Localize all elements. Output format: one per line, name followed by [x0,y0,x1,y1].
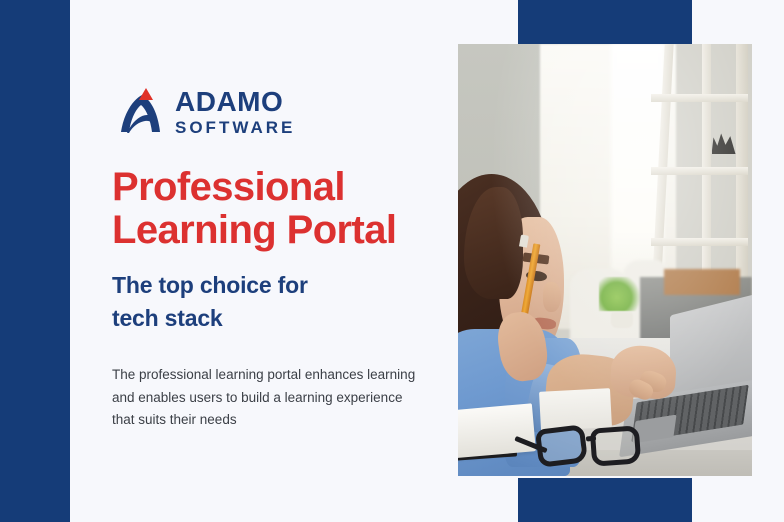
eyeglasses-lens-right [590,426,642,468]
bottom-accent-block [518,478,692,522]
plant-pot [611,312,633,328]
page-title: Professional Learning Portal [112,166,462,252]
logo-primary-text: ADAMO [175,88,295,116]
marketing-banner: ADAMO SOFTWARE Professional Learning Por… [0,0,784,522]
plant [599,277,643,311]
hero-photo [458,44,752,476]
page-subtitle: The top choice for tech stack [112,269,442,336]
content-column: ADAMO SOFTWARE Professional Learning Por… [112,0,452,522]
brand-logo: ADAMO SOFTWARE [114,86,295,138]
photo-scene [458,44,752,476]
body-paragraph: The professional learning portal enhance… [112,364,424,432]
top-accent-block [518,0,692,45]
person-nose [543,282,561,312]
eyeglasses [534,424,663,476]
shelf-board [651,94,748,102]
decor-object [712,132,736,154]
subheadline-line-2: tech stack [112,302,442,335]
logo-secondary-text: SOFTWARE [175,119,295,136]
headline-line-1: Professional [112,165,345,209]
shelf-board [651,167,748,175]
left-accent-bar [0,0,70,522]
open-book [458,403,536,458]
brand-wordmark: ADAMO SOFTWARE [175,88,295,136]
cabinet-wood-accent [664,269,740,295]
adamo-logo-icon [114,86,166,138]
shelf-board [651,238,748,246]
eyeglasses-bridge [586,435,597,441]
subheadline-line-1: The top choice for [112,272,308,298]
headline-line-2: Learning Portal [112,209,462,252]
